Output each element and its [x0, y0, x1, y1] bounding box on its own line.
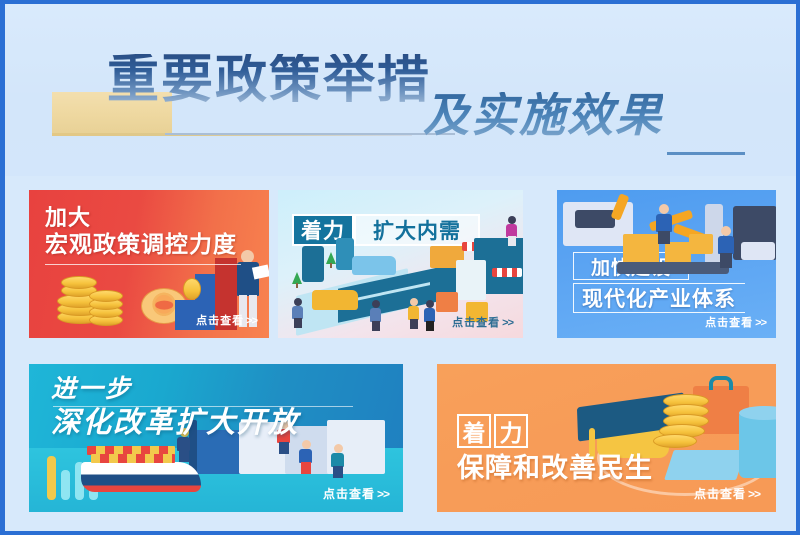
page-root: 重要政策举措 及实施效果 加大: [5, 4, 796, 531]
card-demand-cta-label: 点击查看: [452, 317, 500, 329]
tree-icon-1: [292, 272, 302, 288]
shop-front: [456, 260, 486, 300]
billboard-panel: [302, 246, 324, 282]
crate-2: [665, 242, 691, 264]
coin-stack-small-icon: [89, 290, 125, 328]
card-macro-line1: 加大: [45, 206, 91, 230]
card-demand-line2: 扩大内需: [354, 214, 480, 246]
card-modern-industry[interactable]: 加快建设 现代化产业体系 点击查看>>: [557, 190, 776, 338]
pedestrian-right: [506, 216, 518, 246]
crate-3: [689, 234, 713, 254]
worker-2: [717, 226, 735, 268]
chevron-right-icon: >>: [502, 317, 513, 329]
chevron-right-icon: >>: [377, 487, 389, 501]
card-industry-cta[interactable]: 点击查看>>: [705, 314, 766, 330]
chevron-right-icon: >>: [755, 317, 766, 329]
card-livelihood-cta[interactable]: 点击查看>>: [694, 485, 760, 502]
card-macro-underline: [45, 264, 241, 265]
card-deepen-reform[interactable]: 进一步 深化改革扩大开放 点击查看>>: [29, 364, 403, 512]
card-livelihood-line2: 保障和改善民生: [457, 454, 653, 484]
card-macro-policy[interactable]: 加大 宏观政策调控力度 点击查看>>: [29, 190, 269, 338]
shopper-1: [370, 300, 382, 330]
worker-teal: [331, 444, 345, 478]
car-yellow-icon: [312, 290, 358, 310]
bar-chart-bar-1: [175, 300, 197, 330]
conveyor-belt: [617, 262, 729, 274]
card-macro-cta-label: 点击查看: [196, 315, 244, 327]
crate-1: [623, 234, 659, 264]
car-blue-icon: [352, 256, 396, 275]
card-macro-cta[interactable]: 点击查看>>: [196, 312, 257, 328]
card-reform-line1: 进一步: [51, 376, 132, 402]
page-subtitle: 及实施效果: [423, 92, 663, 138]
card-reform-line2: 深化改革扩大开放: [51, 408, 299, 438]
pill-blister-pack: [664, 450, 746, 480]
briefcase-handle: [709, 376, 733, 390]
ship-containers-row2: [91, 454, 175, 463]
card-demand-cta[interactable]: 点击查看>>: [452, 314, 513, 330]
shopper-2: [408, 298, 420, 328]
chart-bar-left-1: [47, 456, 56, 500]
chevron-right-icon: >>: [246, 315, 257, 327]
page-header: 重要政策举措 及实施效果: [5, 4, 796, 176]
card-livelihood[interactable]: 着 力 保障和改善民生 点击查看>>: [437, 364, 776, 512]
worker-1: [655, 204, 673, 244]
card-livelihood-line1-char1: 着: [457, 414, 491, 448]
card-industry-line2-frame: [573, 283, 745, 313]
card-reform-cta-label: 点击查看: [323, 487, 375, 501]
card-macro-line2: 宏观政策调控力度: [45, 232, 237, 257]
card-expand-demand[interactable]: 着力 扩大内需 点击查看>>: [278, 190, 523, 338]
pedestrian-left: [292, 298, 304, 328]
chart-bar-left-2: [61, 470, 70, 500]
page-title: 重要政策举措: [107, 54, 431, 106]
chevron-right-icon: >>: [748, 487, 760, 501]
container-ship-icon: [81, 462, 201, 492]
title-block: 重要政策举措 及实施效果: [45, 32, 765, 152]
card-livelihood-cta-label: 点击查看: [694, 487, 746, 501]
shopper-3: [424, 300, 436, 330]
parcel-box-orange: [436, 292, 458, 312]
medicine-jar-icon: [739, 412, 776, 478]
machine-panel-right: [741, 242, 775, 260]
card-reform-cta[interactable]: 点击查看>>: [323, 485, 389, 502]
title-rule-right: [667, 152, 745, 155]
title-rule-mid: [165, 133, 455, 135]
single-coin-icon: [183, 278, 201, 300]
card-livelihood-line1-char2: 力: [494, 414, 528, 448]
card-industry-cta-label: 点击查看: [705, 317, 753, 329]
tree-icon-2: [326, 252, 336, 268]
coin-5: [653, 434, 697, 448]
shop-awning-2: [492, 268, 522, 277]
cnc-machine-screen: [575, 210, 615, 228]
card-livelihood-line1: 着 力: [457, 414, 528, 448]
worker-blue: [299, 440, 313, 474]
